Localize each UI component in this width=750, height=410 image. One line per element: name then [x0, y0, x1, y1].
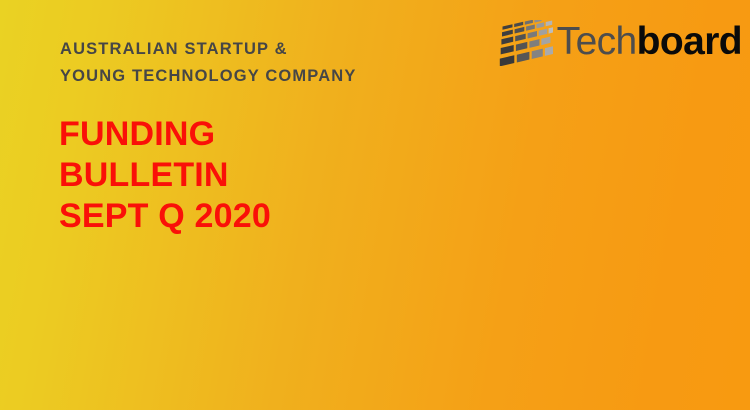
- eyebrow-line-1: AUSTRALIAN STARTUP &: [60, 36, 490, 63]
- title-line-bulletin: BULLETIN: [59, 155, 271, 196]
- logo-word-tech: Tech: [557, 20, 637, 63]
- page-title: FUNDING BULLETIN SEPT Q 2020: [59, 114, 271, 237]
- techboard-logo[interactable]: Techboard: [499, 20, 742, 66]
- funding-bulletin-poster: Techboard AUSTRALIAN STARTUP & YOUNG TEC…: [0, 0, 750, 410]
- logo-word-board: board: [637, 20, 742, 63]
- eyebrow-line-2: YOUNG TECHNOLOGY COMPANY: [60, 63, 490, 90]
- techboard-wordmark: Techboard: [557, 22, 742, 65]
- title-line-period: SEPT Q 2020: [59, 196, 271, 237]
- eyebrow-heading: AUSTRALIAN STARTUP & YOUNG TECHNOLOGY CO…: [60, 36, 490, 90]
- title-line-funding: FUNDING: [59, 114, 271, 155]
- techboard-grid-icon: [499, 20, 553, 66]
